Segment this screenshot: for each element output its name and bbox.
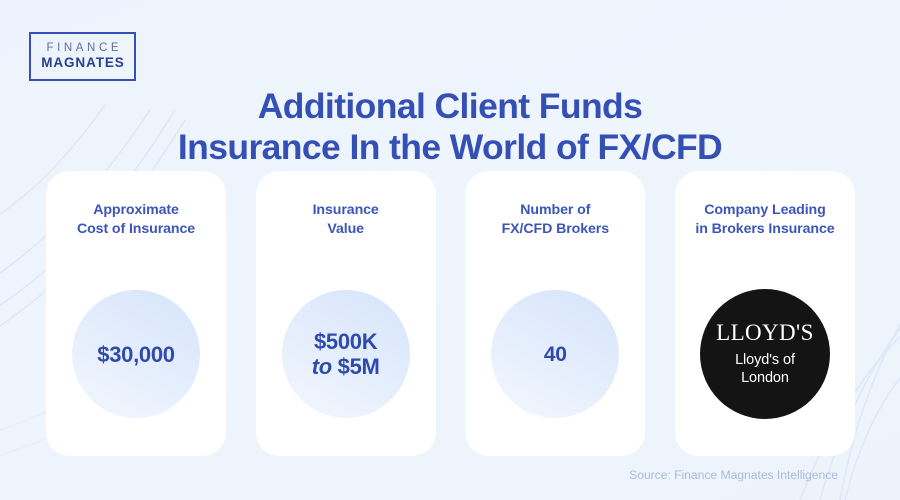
stat-card-broker-count: Number of FX/CFD Brokers 40 [465, 171, 645, 456]
card-heading-line-1: Approximate [50, 201, 222, 220]
lloyds-sublabel-line-1: Lloyd's of [735, 352, 795, 370]
stat-card-row: Approximate Cost of Insurance $30,000 In… [46, 171, 855, 456]
logo-text-finance: FINANCE [43, 41, 122, 55]
page-title: Additional Client Funds Insurance In the… [0, 86, 900, 168]
title-line-1: Additional Client Funds [0, 86, 900, 127]
card-value: 40 [544, 342, 567, 367]
value-circle: $500K to $5M [282, 290, 410, 418]
card-value: $30,000 [97, 342, 174, 367]
card-value-line-2: to $5M [312, 354, 380, 379]
card-value-range-word: to [312, 354, 332, 379]
title-line-2: Insurance In the World of FX/CFD [0, 127, 900, 168]
value-circle: 40 [491, 290, 619, 418]
source-attribution: Source: Finance Magnates Intelligence [629, 468, 838, 482]
card-heading-line-1: Number of [469, 201, 641, 220]
logo-text-magnates: MAGNATES [40, 55, 124, 72]
stat-card-insurance-value: Insurance Value $500K to $5M [256, 171, 436, 456]
card-heading-line-2: Value [260, 220, 432, 239]
lloyds-sublabel-line-2: London [735, 370, 795, 388]
card-heading-line-2: Cost of Insurance [50, 220, 222, 239]
lloyds-logo: LLOYD'S Lloyd's of London [700, 289, 830, 419]
card-heading: Company Leading in Brokers Insurance [679, 201, 851, 238]
stat-card-leading-company: Company Leading in Brokers Insurance LLO… [675, 171, 855, 456]
card-heading-line-2: FX/CFD Brokers [469, 220, 641, 239]
card-heading: Approximate Cost of Insurance [50, 201, 222, 238]
stat-card-cost-of-insurance: Approximate Cost of Insurance $30,000 [46, 171, 226, 456]
lloyds-wordmark: LLOYD'S [716, 321, 814, 345]
card-value-line-1: $500K [312, 329, 380, 354]
card-heading-line-2: in Brokers Insurance [679, 220, 851, 239]
card-heading-line-1: Insurance [260, 201, 432, 220]
finance-magnates-logo: FINANCE MAGNATES [29, 32, 136, 81]
value-circle: $30,000 [72, 290, 200, 418]
card-value-range-amount: $5M [332, 354, 380, 379]
card-value: $500K to $5M [312, 329, 380, 379]
infographic-canvas: FINANCE MAGNATES Additional Client Funds… [0, 0, 900, 500]
lloyds-sublabel: Lloyd's of London [735, 352, 795, 387]
card-heading: Insurance Value [260, 201, 432, 238]
card-heading-line-1: Company Leading [679, 201, 851, 220]
card-heading: Number of FX/CFD Brokers [469, 201, 641, 238]
